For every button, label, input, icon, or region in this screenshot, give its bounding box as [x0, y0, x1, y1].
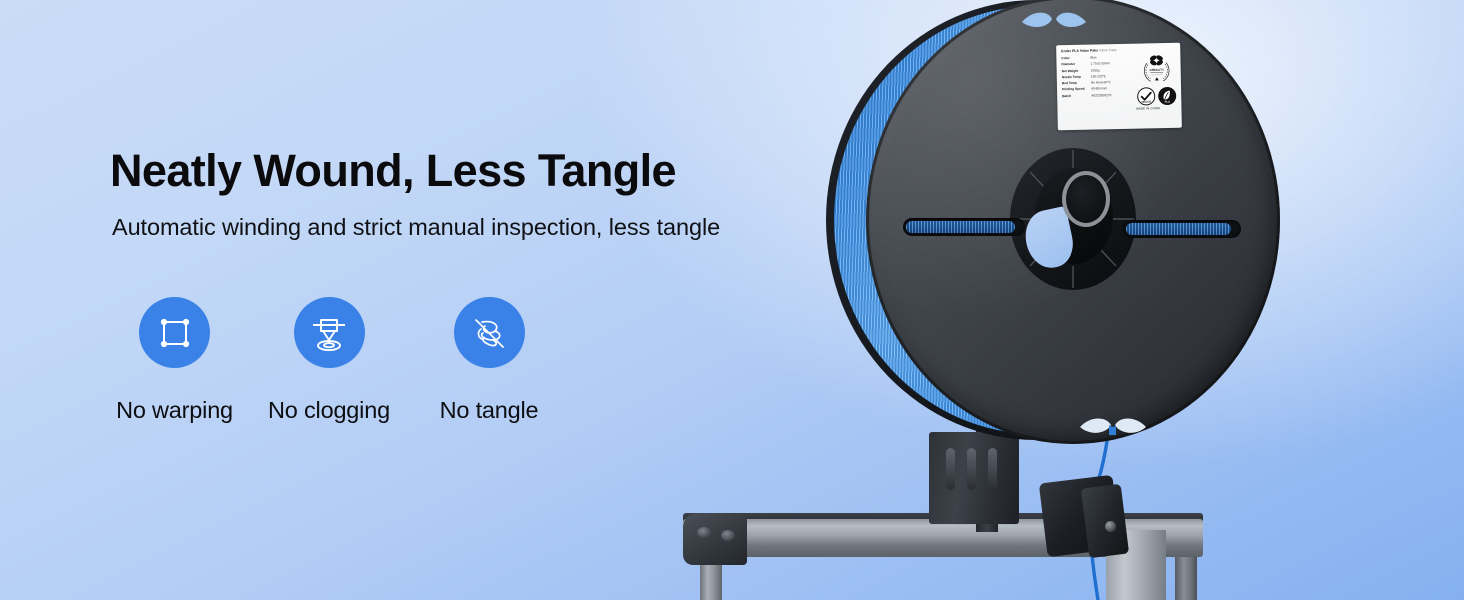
feature-no-warping: No warping [110, 297, 239, 424]
pla-badge: PLA [1158, 87, 1176, 105]
feature-no-tangle: No tangle [419, 297, 559, 424]
label-row: Net Weight 1000g [1062, 67, 1135, 73]
spool-notch-top [1018, 6, 1090, 32]
sensor-front-panel [1081, 484, 1129, 558]
feature-label: No clogging [268, 397, 390, 424]
reach-badge: REACH [1137, 87, 1155, 105]
square-corner-dots-icon [155, 313, 195, 353]
label-row: Color Blue [1061, 55, 1134, 61]
feature-label: No tangle [440, 397, 539, 424]
feature-label: No warping [116, 397, 233, 424]
spool-product-label: Ender PLA Value Pake Value Pake Color Bl… [1056, 43, 1182, 131]
copy-block: Neatly Wound, Less Tangle Automatic wind… [110, 147, 810, 241]
label-spec-rows: Color Blue Diameter 1.75±0.03mm Net Weig… [1061, 55, 1135, 101]
nozzle-extruder-icon [308, 312, 350, 354]
label-row: Diameter 1.75±0.03mm [1061, 61, 1134, 67]
check-icon: REACH [1138, 88, 1154, 104]
bracket-vent-slot [988, 448, 997, 490]
page-title: Neatly Wound, Less Tangle [110, 147, 810, 194]
label-row: Printing Speed 40-80mm/s [1062, 86, 1135, 92]
label-row: Batch AB223500276 [1062, 92, 1135, 98]
bracket-vent-slot [967, 448, 976, 490]
feature-no-clogging: No clogging [239, 297, 419, 424]
frame-leg-right [1175, 555, 1197, 600]
product-banner: Ender PLA Value Pake Value Pake Color Bl… [0, 0, 1464, 600]
bore-collar-ring [1062, 171, 1110, 227]
svg-text:PLA: PLA [1164, 100, 1170, 104]
bracket-hole [697, 527, 711, 538]
svg-text:CREALITY: CREALITY [1149, 68, 1164, 72]
label-row: Nozzle Temp 190-220℃ [1062, 74, 1135, 80]
creality-seal-icon: CREALITY [1140, 53, 1173, 86]
sensor-screw [1105, 521, 1116, 532]
svg-text:REACH: REACH [1141, 100, 1151, 104]
label-origin: MADE IN CHINA [1136, 106, 1160, 111]
label-row: Bed Temp No Heat-60℃ [1062, 80, 1135, 86]
feature-icon-badge [454, 297, 525, 368]
gantry-corner-bracket [683, 513, 747, 565]
subtitle: Automatic winding and strict manual insp… [112, 214, 810, 241]
bracket-hole [721, 530, 735, 541]
filament-spool [820, 0, 1280, 448]
feature-icon-badge [294, 297, 365, 368]
filament-view-slot [903, 218, 1025, 236]
filament-view-slot [1123, 220, 1241, 238]
leaf-icon: PLA [1159, 88, 1175, 104]
spool-notch-bottom [1076, 413, 1150, 441]
slot-filament [1126, 223, 1231, 235]
tangled-thread-slash-icon [468, 312, 510, 354]
feature-icon-badge [139, 297, 210, 368]
bracket-vent-slot [946, 448, 955, 490]
feature-list: No warping No clogging [110, 297, 559, 424]
slot-filament [906, 221, 1015, 233]
